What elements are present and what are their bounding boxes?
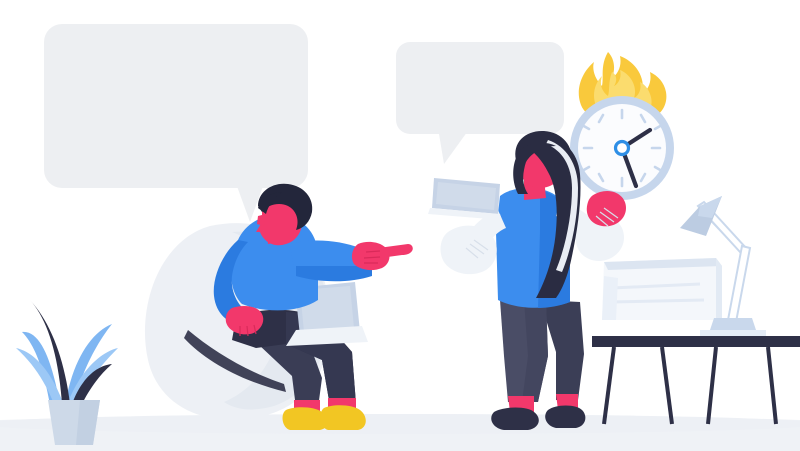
paper-stack xyxy=(602,258,722,320)
desk-top xyxy=(592,336,800,347)
bubble-left-body xyxy=(44,24,308,188)
clock-center-dot xyxy=(616,142,629,155)
lamp-base xyxy=(710,318,756,330)
illustration-scene: The 2,000 shoes must arrive in the US be… xyxy=(0,0,800,451)
paper-line-2 xyxy=(610,300,704,302)
woman-far-shoe xyxy=(545,406,585,429)
lamp-base-plate xyxy=(700,330,766,336)
scene-vector xyxy=(0,0,800,451)
woman-near-shoe xyxy=(491,408,539,431)
paper-corner xyxy=(602,276,618,320)
floor-shadow xyxy=(0,414,800,434)
laptop-woman xyxy=(428,178,502,220)
bubble-right-body xyxy=(396,42,564,134)
paper-stack-right xyxy=(716,258,722,320)
